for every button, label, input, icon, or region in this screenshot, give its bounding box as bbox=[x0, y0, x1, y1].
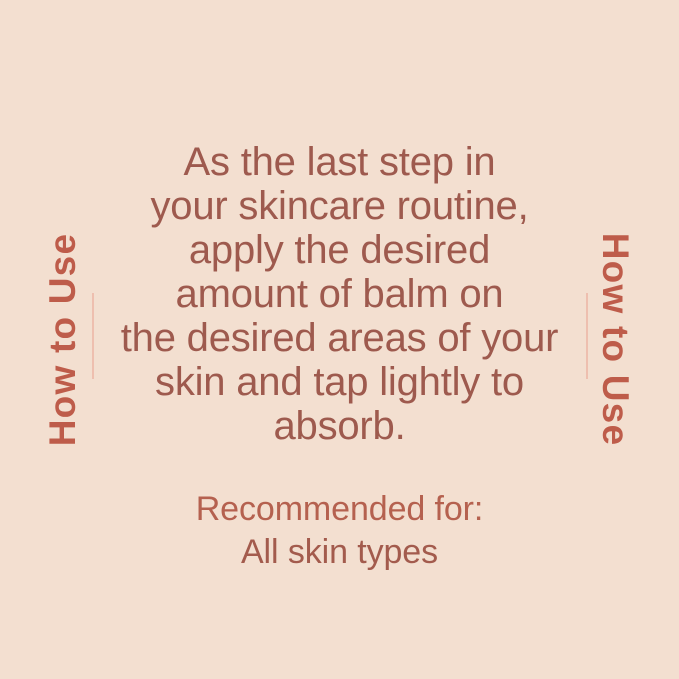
recommended-value: All skin types bbox=[100, 530, 579, 574]
decorative-rule-right bbox=[586, 293, 588, 379]
recommended-block: Recommended for: All skin types bbox=[100, 488, 579, 574]
side-label-right: How to Use bbox=[581, 0, 651, 679]
content-block: As the last step in your skincare routin… bbox=[100, 140, 579, 574]
usage-instructions: As the last step in your skincare routin… bbox=[100, 140, 579, 448]
side-label-right-text: How to Use bbox=[598, 233, 635, 446]
side-label-left: How to Use bbox=[28, 0, 98, 679]
how-to-use-card: How to Use How to Use As the last step i… bbox=[0, 0, 679, 679]
decorative-rule-left bbox=[92, 293, 94, 379]
side-label-left-text: How to Use bbox=[45, 233, 82, 446]
recommended-label: Recommended for: bbox=[100, 488, 579, 530]
